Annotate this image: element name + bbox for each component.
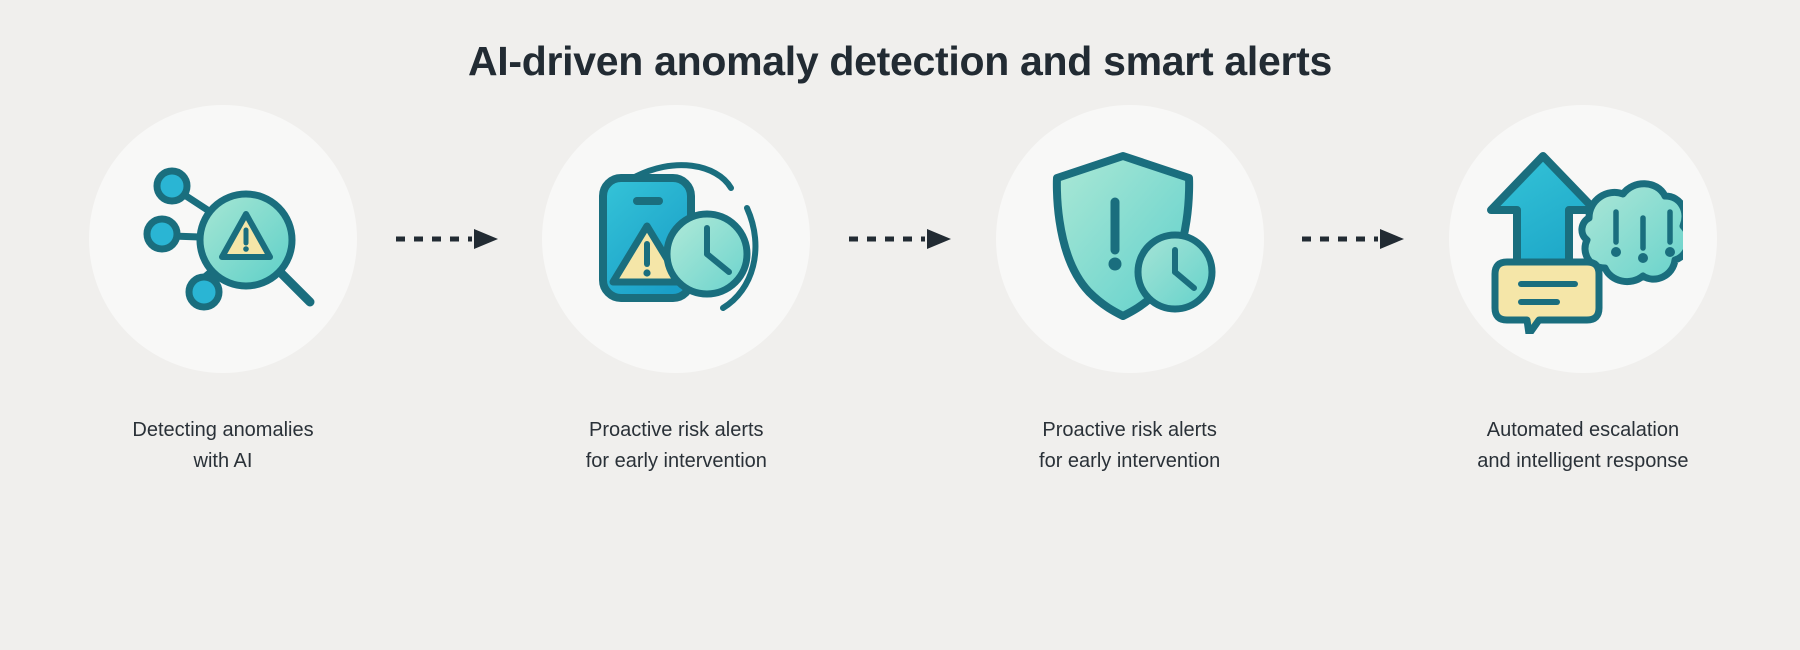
step-automated-escalation: Automated escalation and intelligent res…: [1448, 105, 1718, 477]
step-proactive-risk-alerts-phone: Proactive risk alerts for early interven…: [541, 105, 811, 477]
icon-disc: [542, 105, 810, 373]
caption-line-1: Automated escalation: [1487, 419, 1679, 441]
phone-alert-clock-icon: [581, 144, 771, 334]
step-caption: Automated escalation and intelligent res…: [1477, 415, 1688, 477]
icon-disc: [996, 105, 1264, 373]
icon-disc: [1449, 105, 1717, 373]
connector-1: [386, 105, 514, 373]
step-caption: Proactive risk alerts for early interven…: [586, 415, 767, 477]
infographic-page: AI-driven anomaly detection and smart al…: [0, 0, 1800, 650]
caption-line-1: Detecting anomalies: [132, 419, 313, 441]
step-caption: Proactive risk alerts for early interven…: [1039, 415, 1220, 477]
dashed-arrow-right-icon: [847, 227, 959, 251]
caption-line-2: for early intervention: [1039, 446, 1220, 477]
caption-line-2: with AI: [132, 446, 313, 477]
shield-alert-clock-icon: [1035, 144, 1225, 334]
caption-line-1: Proactive risk alerts: [1042, 419, 1217, 441]
step-proactive-risk-alerts-shield: Proactive risk alerts for early interven…: [995, 105, 1265, 477]
caption-line-2: for early intervention: [586, 446, 767, 477]
step-caption: Detecting anomalies with AI: [132, 415, 313, 477]
page-title: AI-driven anomaly detection and smart al…: [0, 38, 1800, 85]
icon-disc: [89, 105, 357, 373]
escalation-cloud-arrow-icon: [1483, 144, 1683, 334]
step-detecting-anomalies: Detecting anomalies with AI: [88, 105, 358, 477]
connector-3: [1292, 105, 1420, 373]
caption-line-2: and intelligent response: [1477, 446, 1688, 477]
dashed-arrow-right-icon: [394, 227, 506, 251]
dashed-arrow-right-icon: [1300, 227, 1412, 251]
process-flow: Detecting anomalies with AI: [88, 105, 1718, 477]
caption-line-1: Proactive risk alerts: [589, 419, 764, 441]
anomaly-network-magnifier-icon: [128, 144, 318, 334]
connector-2: [839, 105, 967, 373]
